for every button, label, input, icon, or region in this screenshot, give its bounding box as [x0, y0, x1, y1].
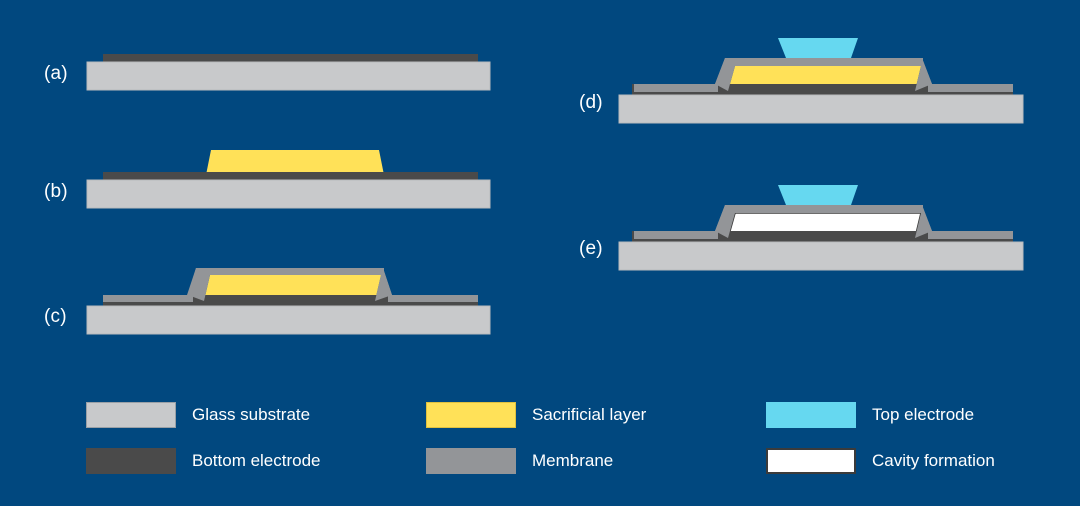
- legend-label-membrane: Membrane: [532, 451, 613, 471]
- legend-swatch-sacrificial-layer: [426, 402, 516, 428]
- legend: Glass substrate Sacrificial layer Top el…: [86, 392, 1046, 482]
- step-c-membrane-right-flat: [388, 295, 478, 302]
- legend-swatch-glass-substrate: [86, 402, 176, 428]
- step-d-membrane-left-flat: [634, 84, 718, 92]
- figure-root: (a) (b) (c) (d) (e) Glass substrate Sacr…: [0, 0, 1080, 506]
- step-e-membrane-right-flat: [928, 231, 1013, 239]
- step-b-glass-substrate: [87, 180, 490, 208]
- legend-label-top-electrode: Top electrode: [872, 405, 974, 425]
- step-label-b: (b): [44, 181, 68, 203]
- legend-item-bottom-electrode: Bottom electrode: [86, 448, 426, 474]
- step-label-c: (c): [44, 306, 67, 328]
- legend-label-cavity-formation: Cavity formation: [872, 451, 995, 471]
- legend-item-membrane: Membrane: [426, 448, 766, 474]
- step-c-glass-substrate: [87, 306, 490, 334]
- step-e-membrane-left-flat: [634, 231, 718, 239]
- legend-swatch-top-electrode: [766, 402, 856, 428]
- step-e-top-electrode: [778, 185, 858, 205]
- step-d-top-electrode: [778, 38, 858, 58]
- step-a-glass-substrate: [87, 62, 490, 90]
- legend-item-sacrificial-layer: Sacrificial layer: [426, 402, 766, 428]
- legend-swatch-bottom-electrode: [86, 448, 176, 474]
- legend-label-glass-substrate: Glass substrate: [192, 405, 310, 425]
- legend-item-glass-substrate: Glass substrate: [86, 402, 426, 428]
- step-a-stack: [87, 54, 490, 90]
- step-d-membrane-top-flat: [725, 58, 923, 66]
- step-e-glass-substrate: [619, 242, 1023, 270]
- legend-label-bottom-electrode: Bottom electrode: [192, 451, 321, 471]
- legend-swatch-membrane: [426, 448, 516, 474]
- step-e-membrane-top-flat: [725, 205, 923, 213]
- legend-label-sacrificial-layer: Sacrificial layer: [532, 405, 646, 425]
- step-d-membrane-right-flat: [928, 84, 1013, 92]
- step-c-membrane-left-flat: [103, 295, 193, 302]
- legend-item-top-electrode: Top electrode: [766, 402, 1046, 428]
- step-label-d: (d): [579, 92, 603, 114]
- step-label-a: (a): [44, 63, 68, 85]
- legend-item-cavity-formation: Cavity formation: [766, 448, 1046, 474]
- step-c-membrane-top-flat: [196, 268, 384, 275]
- step-label-e: (e): [579, 238, 603, 260]
- step-d-glass-substrate: [619, 95, 1023, 123]
- legend-swatch-cavity-formation: [766, 448, 856, 474]
- step-b-sacrificial-layer: [206, 150, 384, 175]
